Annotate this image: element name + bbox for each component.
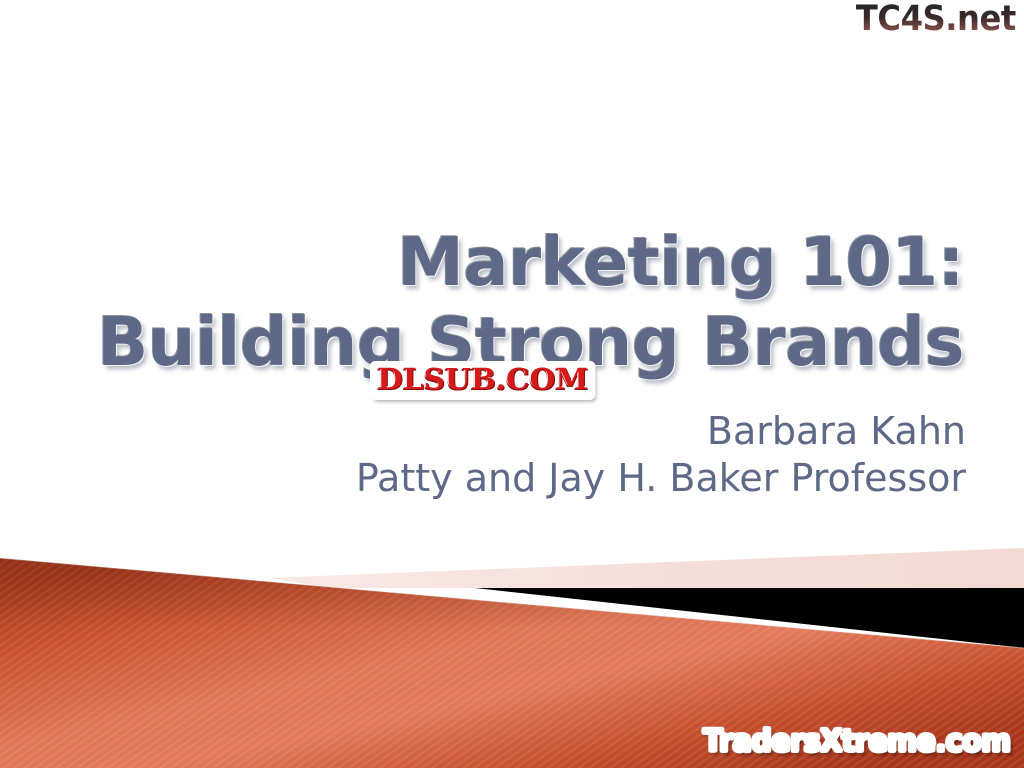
watermark-tradersxtreme: TradersXtreme.com [703,727,1010,757]
title-line-1: Marketing 101: [0,222,964,302]
watermark-dlsub: DLSUB.COM [372,363,593,398]
subtitle-line-2: Patty and Jay H. Baker Professor [0,455,966,502]
subtitle-line-1: Barbara Kahn [0,408,966,455]
presentation-slide: TC4S.net Marketing 101: Building Strong … [0,0,1024,768]
slide-subtitle: Barbara Kahn Patty and Jay H. Baker Prof… [0,408,966,502]
watermark-tradersxtreme-text: TradersXtreme.com [703,724,1010,759]
slide-title: Marketing 101: Building Strong Brands [0,222,964,382]
watermark-tc4s: TC4S.net [856,2,1016,37]
